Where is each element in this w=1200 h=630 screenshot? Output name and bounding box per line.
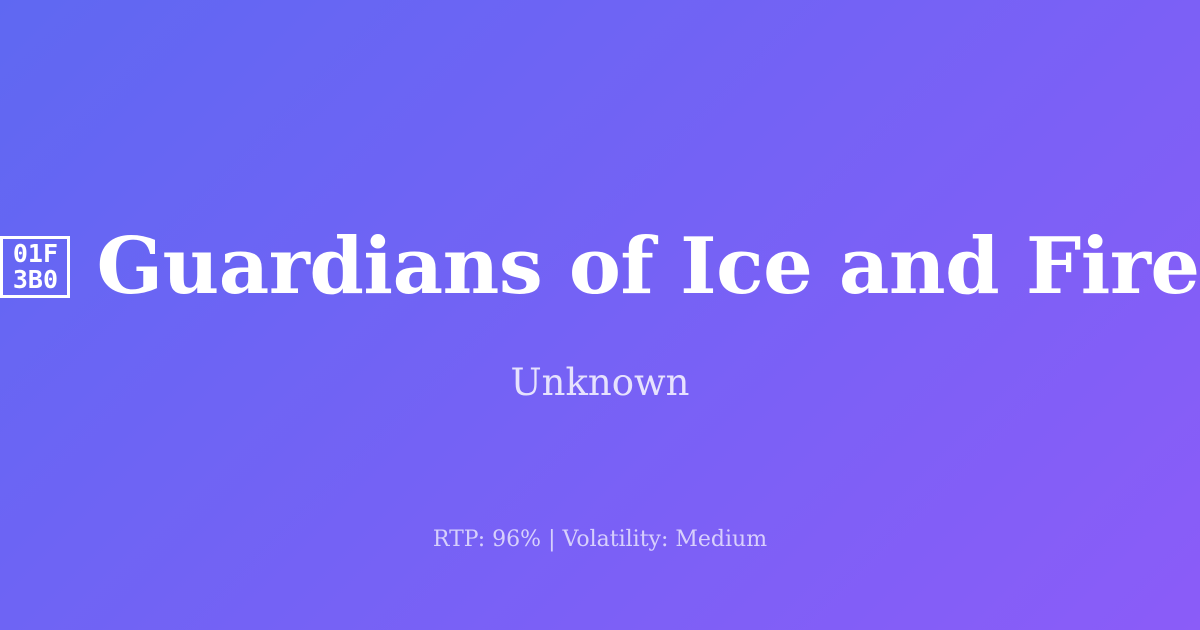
page-title: Guardians of Ice and Fire — [96, 228, 1199, 306]
og-preview-card: 01F 3B0 Guardians of Ice and Fire Unknow… — [0, 0, 1200, 630]
game-meta-line: RTP: 96% | Volatility: Medium — [0, 529, 1200, 551]
tofu-codepoint-bottom: 3B0 — [13, 267, 58, 294]
slot-machine-icon: 01F 3B0 — [0, 236, 70, 298]
tofu-codepoint-top: 01F — [13, 241, 58, 268]
page-subtitle: Unknown — [0, 364, 1200, 401]
title-row: 01F 3B0 Guardians of Ice and Fire — [0, 228, 1200, 306]
